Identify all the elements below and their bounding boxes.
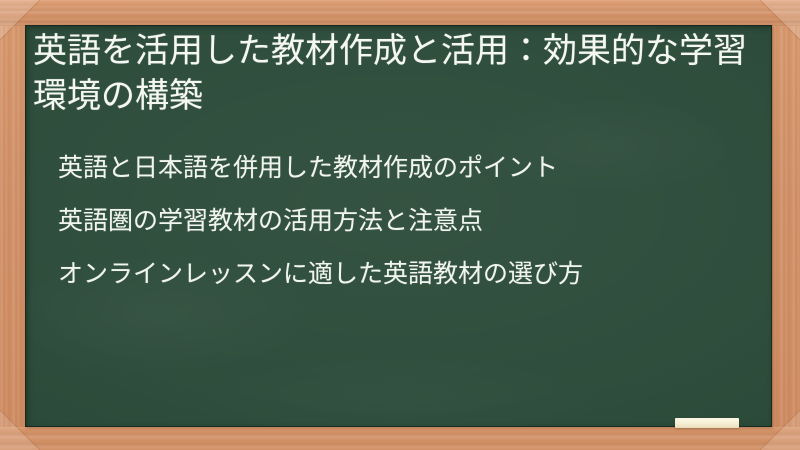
chalkboard-surface: 英語を活用した教材作成と活用：効果的な学習環境の構築 英語と日本語を併用した教材… (25, 25, 772, 427)
list-item: 英語圏の学習教材の活用方法と注意点 (58, 208, 748, 234)
slide-bullet-list: 英語と日本語を併用した教材作成のポイント 英語圏の学習教材の活用方法と注意点 オ… (58, 155, 748, 314)
chalk-stick (675, 418, 739, 428)
list-item: 英語と日本語を併用した教材作成のポイント (58, 155, 748, 181)
frame-bottom-rail (0, 427, 800, 450)
list-item: オンラインレッスンに適した英語教材の選び方 (58, 261, 748, 287)
slide-content: 英語を活用した教材作成と活用：効果的な学習環境の構築 英語と日本語を併用した教材… (25, 25, 772, 427)
frame-top-rail (0, 0, 800, 26)
slide-title: 英語を活用した教材作成と活用：効果的な学習環境の構築 (33, 29, 749, 119)
chalkboard-slide: 英語を活用した教材作成と活用：効果的な学習環境の構築 英語と日本語を併用した教材… (0, 0, 800, 450)
